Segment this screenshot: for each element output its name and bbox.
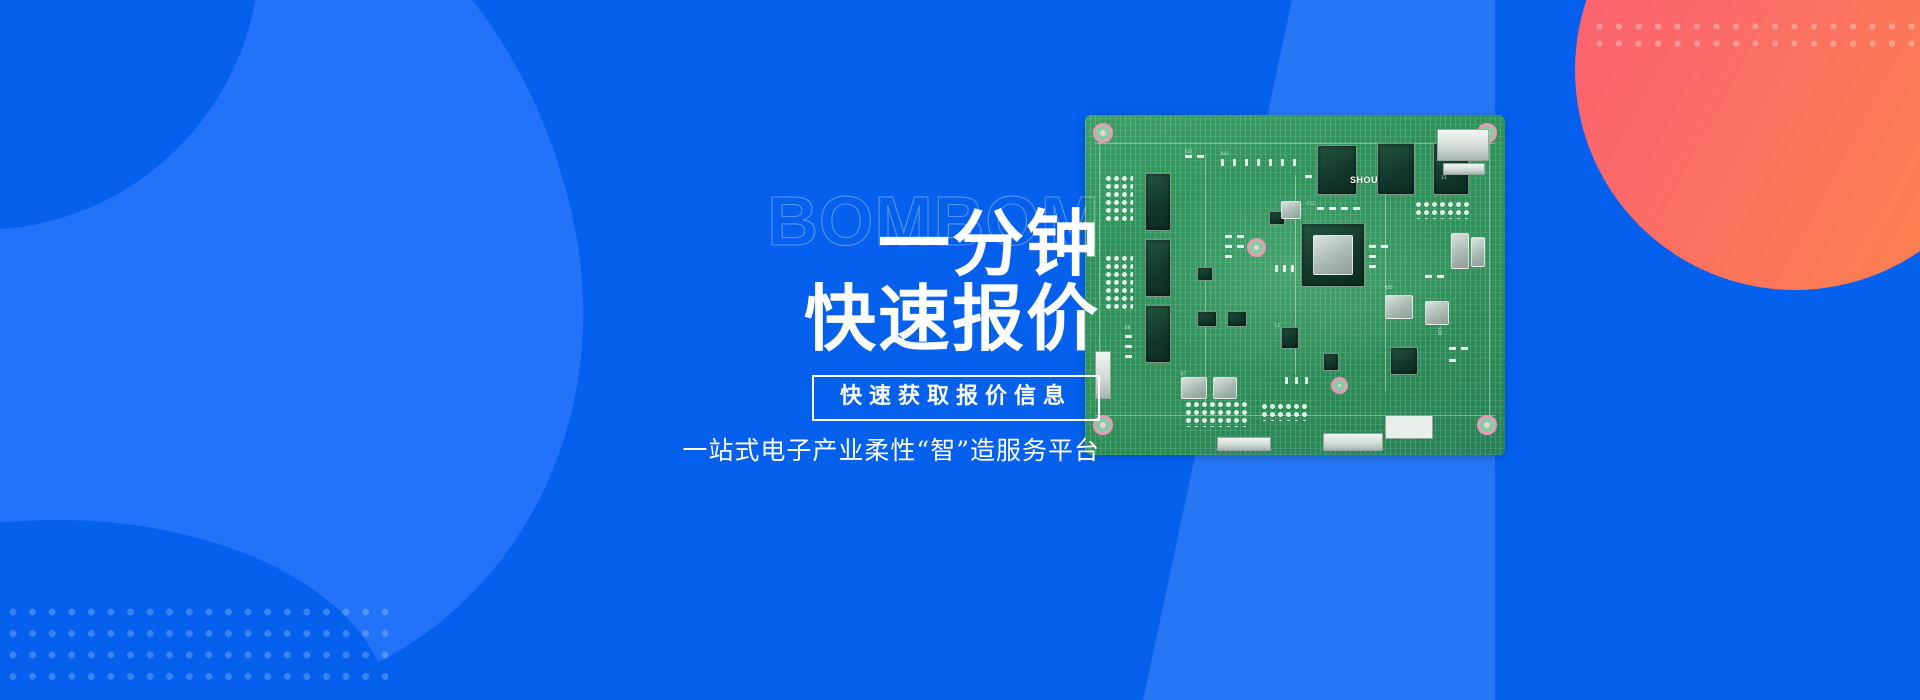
pcb-circuit-board: U21 U43 C12 R55 J3 D8 L2 Q7 SIM SHOU (1085, 115, 1505, 455)
hero-banner: U21 U43 C12 R55 J3 D8 L2 Q7 SIM SHOU BOM… (0, 0, 1920, 700)
page-title-line-2: 快速报价 (670, 283, 1100, 356)
pcb-brand-badge: SHOU (1350, 175, 1378, 185)
cta-button[interactable]: 快速获取报价信息 (812, 375, 1100, 421)
tagline: 一站式电子产业柔性“智”造服务平台 (670, 437, 1100, 465)
page-title-line-1: 一分钟 (670, 208, 1100, 281)
dot-grid-pattern-bottom-left (8, 607, 388, 691)
dot-grid-pattern-top-right (1595, 22, 1915, 56)
hero-text-block: BOMBOM 一分钟 快速报价 快速获取报价信息 一站式电子产业柔性“智”造服务… (670, 150, 1100, 464)
